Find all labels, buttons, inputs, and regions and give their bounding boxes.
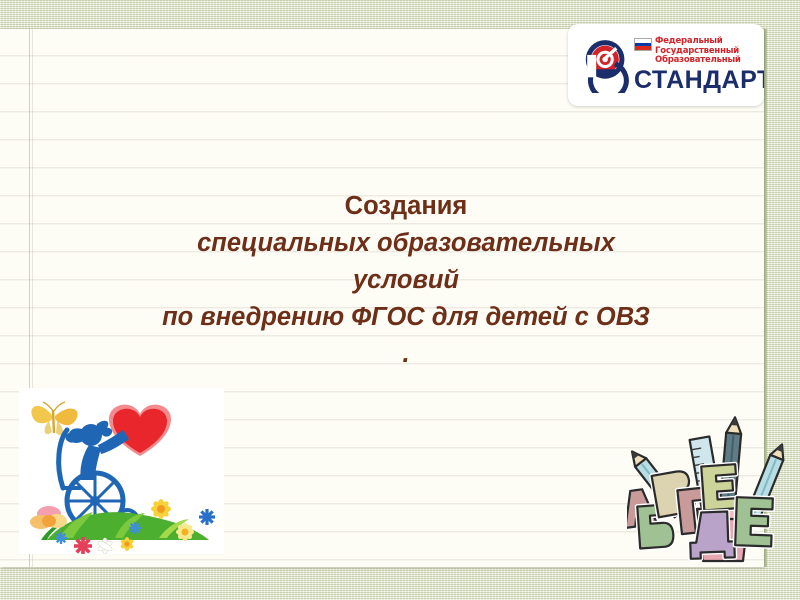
inclusion-illustration-svg <box>19 388 224 554</box>
fgos-full-name: Федеральный Государственный Образователь… <box>634 37 764 66</box>
fgos-text-block: Федеральный Государственный Образователь… <box>634 37 764 93</box>
letter-block-e-front <box>735 497 773 546</box>
fgos-logo: Федеральный Государственный Образователь… <box>568 24 764 106</box>
title-line-5: . <box>96 336 716 373</box>
heart-icon <box>109 405 171 456</box>
fgos-wordmark: СТАНДАРТ <box>634 67 764 93</box>
presentation-slide: Федеральный Государственный Образователь… <box>0 0 800 600</box>
title-line-2: специальных образовательных <box>96 225 716 262</box>
title-line-4: по внедрению ФГОС для детей с ОВЗ <box>96 299 716 336</box>
cyrillic-alphabet-blocks-illustration: .ol { stroke:#2b2b2b; stroke-width:2.2; … <box>627 415 795 565</box>
fgos-line-educational: Образовательный <box>655 56 741 66</box>
russian-flag-icon <box>634 38 652 51</box>
butterfly-icon <box>31 402 77 435</box>
letter-block-e-back <box>701 464 738 510</box>
alphabet-illustration-svg: .ol { stroke:#2b2b2b; stroke-width:2.2; … <box>627 415 795 565</box>
fgos-name-lines: Федеральный Государственный Образователь… <box>655 37 741 66</box>
title-line-3: условий <box>96 262 716 299</box>
fgos-spiral-emblem-icon <box>576 37 632 93</box>
title-line-1: Создания <box>96 188 716 225</box>
page-title: Создания специальных образовательных усл… <box>96 188 716 373</box>
inclusion-wheelchair-heart-illustration <box>19 388 224 554</box>
